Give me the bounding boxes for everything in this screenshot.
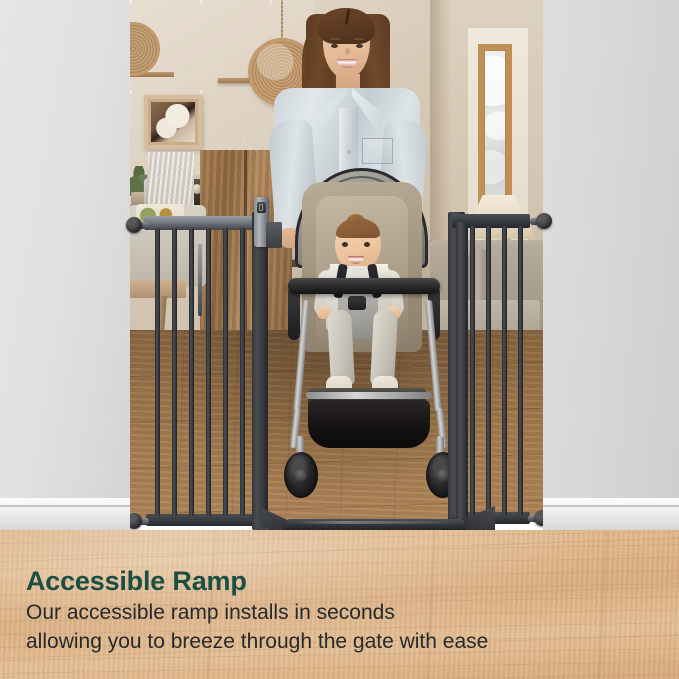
gate-bar bbox=[240, 228, 245, 516]
gate-latch-indicator-icon bbox=[259, 204, 263, 211]
caption-body-line: Our accessible ramp installs in seconds bbox=[26, 599, 646, 628]
gate-left-panel-top-rail bbox=[144, 216, 256, 230]
gate-bar bbox=[189, 228, 194, 516]
gate-door-latch-stile bbox=[252, 212, 268, 530]
gate-bar bbox=[486, 226, 491, 516]
gate-handle-grip[interactable] bbox=[198, 244, 202, 316]
caption-block: Accessible Ramp Our accessible ramp inst… bbox=[26, 566, 646, 657]
gate-hinge-plate-top bbox=[266, 222, 282, 248]
gate-right-panel-post bbox=[456, 222, 468, 522]
gate-tension-knob-left-top[interactable] bbox=[126, 217, 142, 233]
caption-heading: Accessible Ramp bbox=[26, 566, 646, 596]
gate-bar bbox=[470, 226, 475, 516]
gate-bar bbox=[206, 228, 211, 516]
gate-bar bbox=[223, 228, 228, 516]
accessible-ramp-highlight bbox=[292, 521, 458, 524]
caption-body: Our accessible ramp installs in seconds … bbox=[26, 599, 646, 657]
gate-bar bbox=[502, 226, 507, 516]
gate-bar bbox=[155, 228, 160, 516]
gate-bar bbox=[172, 228, 177, 516]
screenshot-canvas: Accessible Ramp Our accessible ramp inst… bbox=[0, 0, 679, 679]
gate-bar bbox=[518, 226, 523, 516]
baby-safety-gate[interactable] bbox=[0, 0, 679, 540]
gate-tension-knob-right-top[interactable] bbox=[536, 213, 552, 229]
caption-body-line: allowing you to breeze through the gate … bbox=[26, 628, 646, 657]
